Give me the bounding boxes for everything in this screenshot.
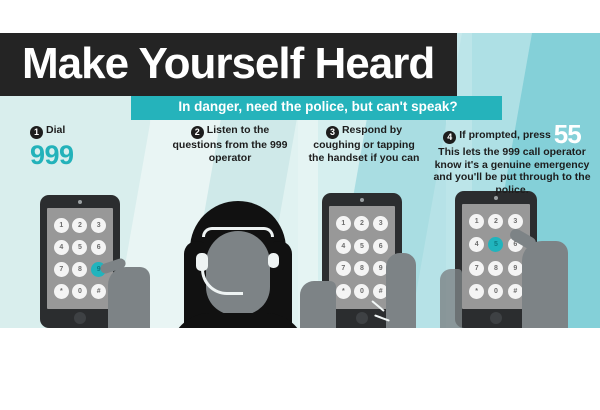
keypad-key: #	[91, 284, 106, 299]
keypad-step1: 1 2 3 4 5 6 7 8 9 * 0 #	[47, 208, 113, 309]
infographic-poster: 1 2 3 4 5 6 7 8 9 * 0 #	[0, 0, 600, 410]
keypad-key: 7	[336, 261, 351, 276]
keypad-key: 2	[354, 216, 369, 231]
keypad-key: 2	[488, 214, 503, 229]
hand-right-step3	[386, 253, 416, 328]
keypad-key: 0	[354, 284, 369, 299]
keypad-key: 7	[54, 262, 69, 277]
keypad-key: 6	[373, 239, 388, 254]
keypad-key: *	[336, 284, 351, 299]
keypad-key: #	[508, 284, 523, 299]
keypad-key: 8	[488, 261, 503, 276]
step-3-lead: Respond by	[342, 124, 402, 136]
keypad-key: 5	[354, 239, 369, 254]
phone-home-button	[356, 312, 368, 324]
step-4-lead: If prompted, press	[459, 129, 551, 141]
keypad-key: 4	[469, 237, 484, 252]
phone-camera-icon	[78, 200, 82, 204]
keypad-step4: 1 2 3 4 5 6 7 8 9 * 0 #	[462, 204, 530, 309]
step-4-text: 4If prompted, press 55 This lets the 999…	[428, 122, 596, 196]
step-3-body: coughing or tapping the handset if you c…	[305, 139, 423, 164]
hand-palm-step4	[522, 241, 568, 328]
keypad-key: 3	[91, 218, 106, 233]
operator-silhouette	[168, 201, 308, 328]
phone-home-button	[74, 312, 86, 324]
keypad-key: 3	[508, 214, 523, 229]
step-number-badge: 1	[30, 126, 43, 139]
phone-screen: 1 2 3 4 5 6 7 8 9 * 0 #	[462, 204, 530, 309]
keypad-key: 8	[354, 261, 369, 276]
page-subtitle: In danger, need the police, but can't sp…	[140, 99, 496, 118]
hand-left-step3	[300, 281, 336, 328]
keypad-key: 8	[72, 262, 87, 277]
keypad-key: 1	[469, 214, 484, 229]
keypad-key: 0	[488, 284, 503, 299]
hand-palm-step1	[108, 267, 150, 328]
keypad-key: 6	[91, 240, 106, 255]
illustration-stage: 1 2 3 4 5 6 7 8 9 * 0 #	[0, 33, 600, 328]
step-number-badge: 2	[191, 126, 204, 139]
step-number-badge: 4	[443, 131, 456, 144]
phone-home-button	[490, 312, 502, 324]
keypad-key: 1	[54, 218, 69, 233]
keypad-key: 5	[72, 240, 87, 255]
step-number-badge: 3	[326, 126, 339, 139]
step-1-text: 1Dial 999	[30, 124, 150, 169]
keypad-key-highlighted: 5	[488, 237, 503, 252]
keypad-key: 0	[72, 284, 87, 299]
footer-bar: OPC Independent Office for Police Conduc…	[0, 328, 600, 410]
keypad-key: *	[469, 284, 484, 299]
keypad-key: 1	[336, 216, 351, 231]
keypad-key: *	[54, 284, 69, 299]
step-2-body: questions from the 999 operator	[164, 139, 296, 164]
phone-screen: 1 2 3 4 5 6 7 8 9 * 0 #	[47, 208, 113, 309]
step-1-big-number: 999	[30, 141, 150, 169]
keypad-key: 3	[373, 216, 388, 231]
headset-earpiece-icon	[268, 253, 279, 268]
keypad-key: 9	[508, 261, 523, 276]
hand-thumb-step4	[440, 269, 462, 328]
step-2-text: 2Listen to the questions from the 999 op…	[164, 124, 296, 164]
page-title: Make Yourself Heard	[22, 38, 434, 90]
step-1-lead: Dial	[46, 124, 65, 136]
headset-band-icon	[202, 227, 274, 237]
keypad-key: 4	[336, 239, 351, 254]
step-3-text: 3Respond by coughing or tapping the hand…	[305, 124, 423, 164]
step-4-big-number: 55	[554, 119, 581, 149]
keypad-key: 2	[72, 218, 87, 233]
keypad-key: 7	[469, 261, 484, 276]
phone-camera-icon	[360, 198, 364, 202]
phone-camera-icon	[494, 196, 498, 200]
keypad-key: 4	[54, 240, 69, 255]
step-4-body: This lets the 999 call operator know it'…	[428, 146, 596, 196]
step-2-lead: Listen to the	[207, 124, 269, 136]
